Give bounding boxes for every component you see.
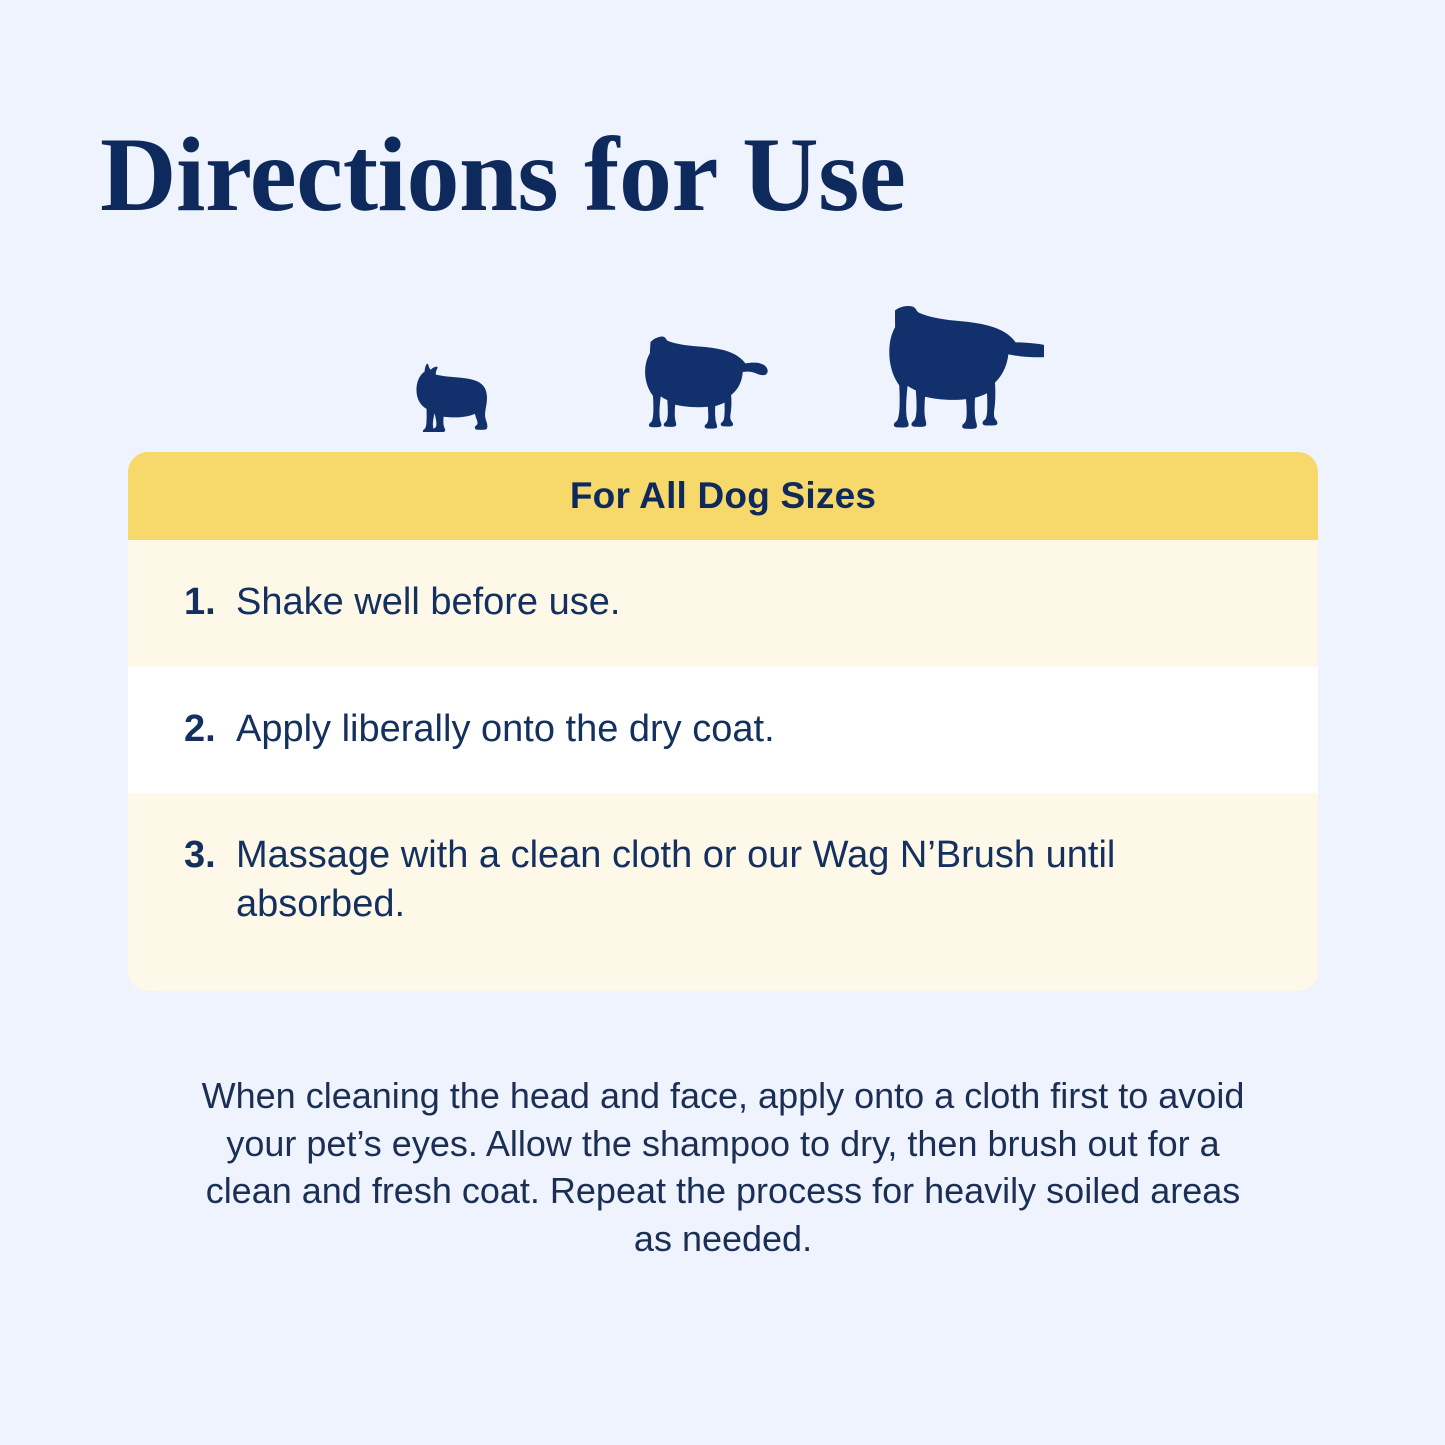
step-row: 3. Massage with a clean cloth or our Wag… [128, 793, 1318, 990]
footer-note: When cleaning the head and face, apply o… [190, 1072, 1256, 1262]
step-row: 2. Apply liberally onto the dry coat. [128, 667, 1318, 794]
page-title: Directions for Use [100, 122, 905, 228]
small-dog-silhouette-icon [404, 362, 500, 432]
step-text: Massage with a clean cloth or our Wag N’… [236, 831, 1262, 928]
step-number: 1. [184, 578, 236, 627]
dog-size-illustration-row [0, 296, 1445, 432]
step-text: Apply liberally onto the dry coat. [236, 705, 1262, 754]
large-dog-silhouette-icon [856, 306, 1044, 432]
directions-card: For All Dog Sizes 1. Shake well before u… [128, 452, 1318, 991]
medium-dog-silhouette-icon [620, 336, 770, 432]
step-text: Shake well before use. [236, 578, 1262, 627]
card-header-label: For All Dog Sizes [570, 475, 876, 517]
directions-for-use-page: Directions for Use For All Dog Sizes 1. … [0, 0, 1445, 1445]
card-header-banner: For All Dog Sizes [128, 452, 1318, 540]
step-number: 3. [184, 831, 236, 880]
step-number: 2. [184, 705, 236, 754]
step-row: 1. Shake well before use. [128, 540, 1318, 667]
